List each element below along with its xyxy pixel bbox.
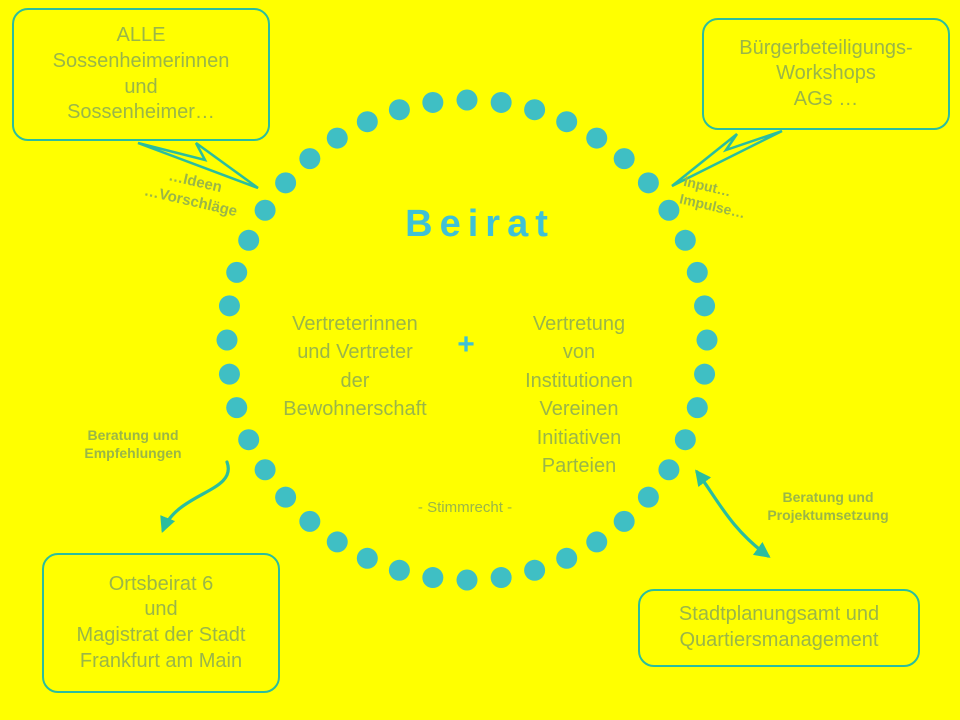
circle-dot xyxy=(457,90,478,111)
circle-dot xyxy=(457,570,478,591)
circle-dot xyxy=(422,567,443,588)
circle-dot xyxy=(422,92,443,113)
circle-dot xyxy=(694,295,715,316)
circle-dot xyxy=(675,429,696,450)
circle-dot xyxy=(614,148,635,169)
circle-dot xyxy=(586,531,607,552)
bubble-all-residents-text: ALLE Sossenheimerinnen und Sossenheimer… xyxy=(47,23,236,125)
voting-rights-note: - Stimmrecht - xyxy=(340,499,590,516)
diagram-canvas: ALLE Sossenheimerinnen und Sossenheimer…… xyxy=(0,0,960,720)
circle-dot xyxy=(586,128,607,149)
center-right-column: Vertretung von Institutionen Vereinen In… xyxy=(492,310,666,480)
circle-dot xyxy=(638,172,659,193)
bubble-stadtplanungsamt[interactable]: Stadtplanungsamt und Quartiersmanagement xyxy=(638,589,920,667)
circle-dot xyxy=(697,330,718,351)
circle-dot xyxy=(219,295,240,316)
circle-dot xyxy=(389,99,410,120)
circle-dot xyxy=(556,548,577,569)
plus-icon: + xyxy=(440,328,492,362)
circle-dot xyxy=(299,511,320,532)
circle-dot xyxy=(491,567,512,588)
circle-dot xyxy=(357,111,378,132)
circle-dot xyxy=(524,560,545,581)
circle-dot xyxy=(638,487,659,508)
circle-dot xyxy=(275,172,296,193)
bubble-ortsbeirat-magistrat[interactable]: Ortsbeirat 6 und Magistrat der Stadt Fra… xyxy=(42,553,280,693)
circle-dot xyxy=(327,128,348,149)
circle-dot xyxy=(275,487,296,508)
caption-beratung-projektumsetzung: Beratung und Projektumsetzung xyxy=(744,488,912,524)
circle-dot xyxy=(226,397,247,418)
bubble-ortsbeirat-magistrat-text: Ortsbeirat 6 und Magistrat der Stadt Fra… xyxy=(71,572,252,674)
circle-dot xyxy=(217,330,238,351)
circle-dot xyxy=(389,560,410,581)
diagram-title: Beirat xyxy=(0,203,960,246)
circle-dot xyxy=(694,364,715,385)
circle-dot xyxy=(327,531,348,552)
circle-dot xyxy=(219,364,240,385)
caption-beratung-empfehlungen: Beratung und Empfehlungen xyxy=(58,426,208,462)
circle-dot xyxy=(687,262,708,283)
circle-dot xyxy=(556,111,577,132)
circle-dot xyxy=(255,459,276,480)
circle-dot xyxy=(614,511,635,532)
bubble-citizen-workshops[interactable]: Bürgerbeteiligungs- Workshops AGs … xyxy=(702,18,950,130)
arrow-beratung-empfehlungen xyxy=(163,462,228,530)
circle-dot xyxy=(687,397,708,418)
circle-dot xyxy=(226,262,247,283)
circle-dot xyxy=(238,429,259,450)
center-left-column: Vertreterinnen und Vertreter der Bewohne… xyxy=(268,310,442,424)
bubble-all-residents[interactable]: ALLE Sossenheimerinnen und Sossenheimer… xyxy=(12,8,270,141)
circle-dot xyxy=(524,99,545,120)
bubble-stadtplanungsamt-text: Stadtplanungsamt und Quartiersmanagement xyxy=(673,602,885,653)
circle-dot xyxy=(491,92,512,113)
circle-dot xyxy=(357,548,378,569)
bubble-citizen-workshops-text: Bürgerbeteiligungs- Workshops AGs … xyxy=(733,36,918,113)
circle-dot xyxy=(299,148,320,169)
